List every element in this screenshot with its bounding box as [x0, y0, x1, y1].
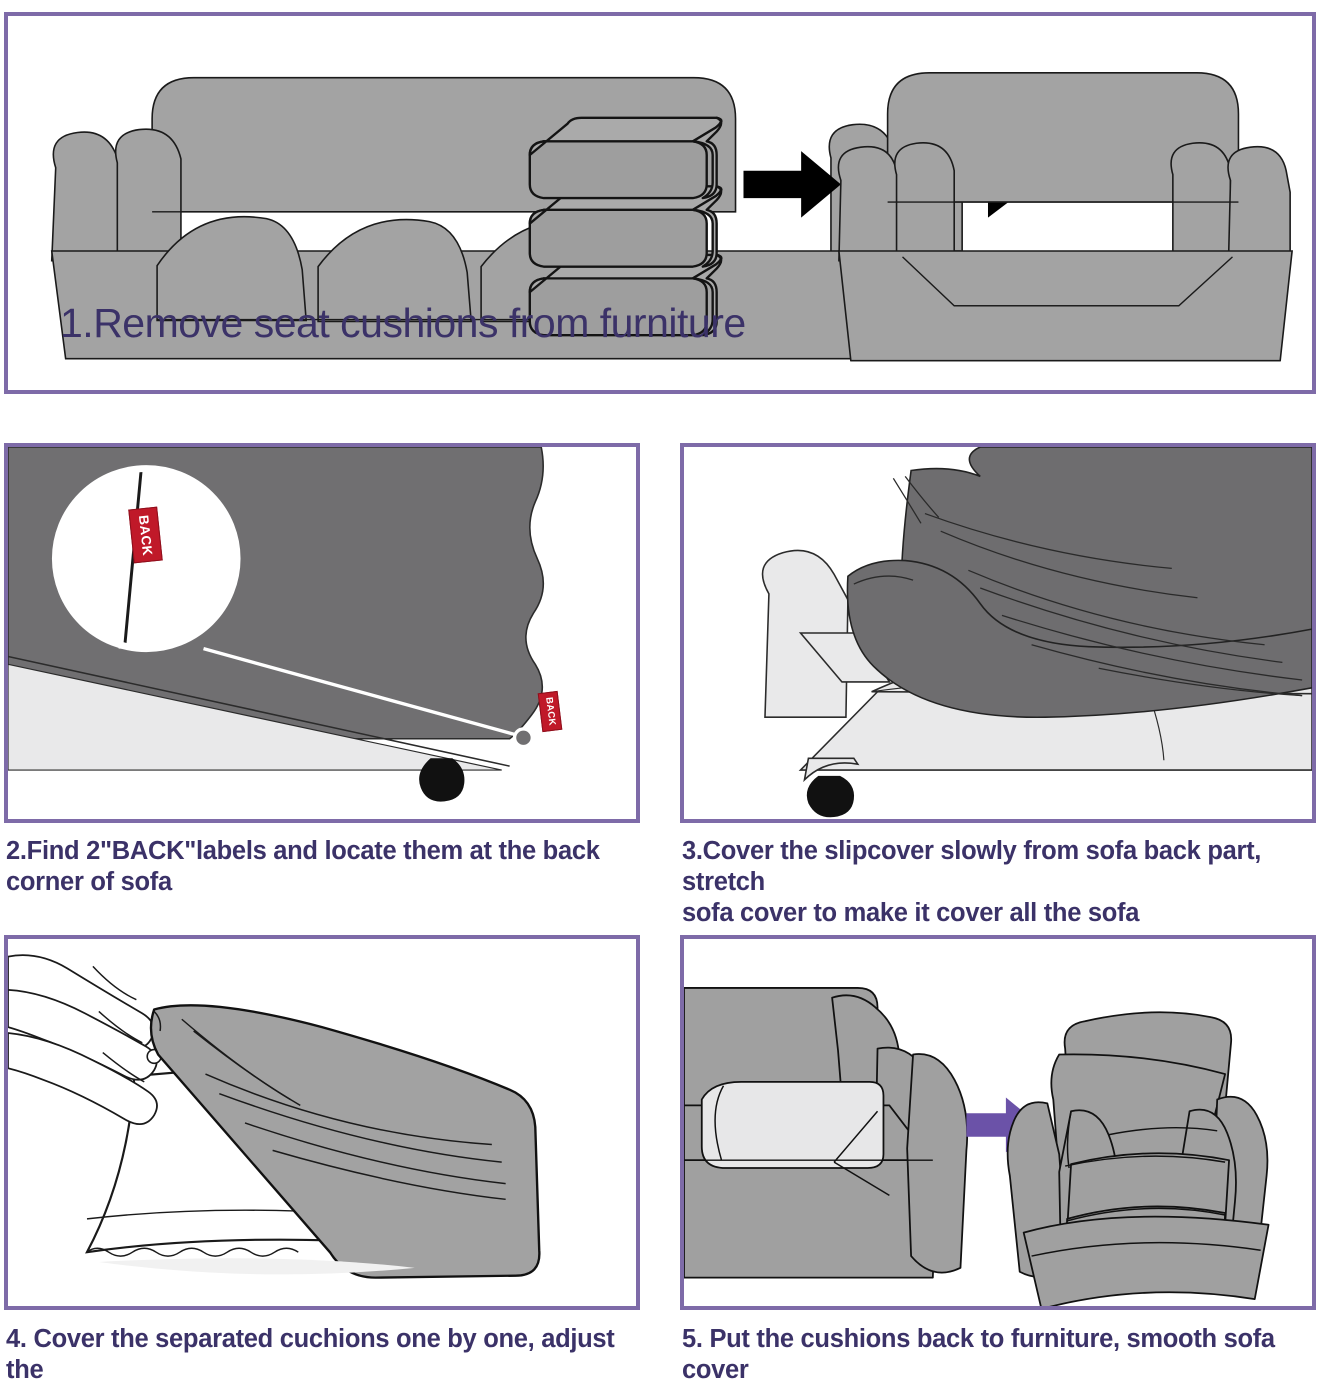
step-3-caption: 3.Cover the slipcover slowly from sofa b… [682, 836, 1323, 929]
slipcover-drape-icon [847, 447, 1312, 717]
step-3-panel: .pale { fill:#e9e9ea; stroke:#2b2b2b; st… [680, 443, 1316, 823]
step-4-illustration: .hand { fill:#ffffff; stroke:#1a1a1a; st… [8, 939, 636, 1306]
black-arrow-2-icon [743, 151, 840, 218]
chair-with-bare-cushion-icon [684, 988, 967, 1278]
step-4-caption: 4. Cover the separated cuchions one by o… [6, 1324, 651, 1386]
step-2-illustration [8, 447, 636, 819]
step-3-illustration: .pale { fill:#e9e9ea; stroke:#2b2b2b; st… [684, 447, 1312, 819]
callout-endpoint [515, 729, 533, 747]
step-5-caption: 5. Put the cushions back to furniture, s… [682, 1324, 1323, 1386]
step-5-panel: .g5 { fill:#a0a0a0; stroke:#111111; stro… [680, 935, 1316, 1310]
step-1-caption: 1.Remove seat cushions from furniture [60, 298, 746, 348]
hands-icon [8, 955, 161, 1124]
instruction-sheet: .lg { fill:#a3a3a3; stroke:#1a1a1a; stro… [0, 0, 1323, 1386]
sofa-without-cushions-icon [838, 73, 1292, 361]
back-label-magnified: BACK [128, 507, 162, 564]
back-label-text: BACK [543, 697, 557, 727]
sofa-foot-icon [807, 776, 854, 817]
back-label-text: BACK [136, 514, 155, 556]
step-4-panel: .hand { fill:#ffffff; stroke:#1a1a1a; st… [4, 935, 640, 1310]
sofa-foot-icon [419, 758, 464, 801]
step-2-caption: 2.Find 2"BACK"labels and locate them at … [6, 836, 646, 898]
step-5-illustration: .g5 { fill:#a0a0a0; stroke:#111111; stro… [684, 939, 1312, 1306]
step-2-panel [4, 443, 640, 823]
finished-armchair-icon [1008, 1012, 1269, 1306]
